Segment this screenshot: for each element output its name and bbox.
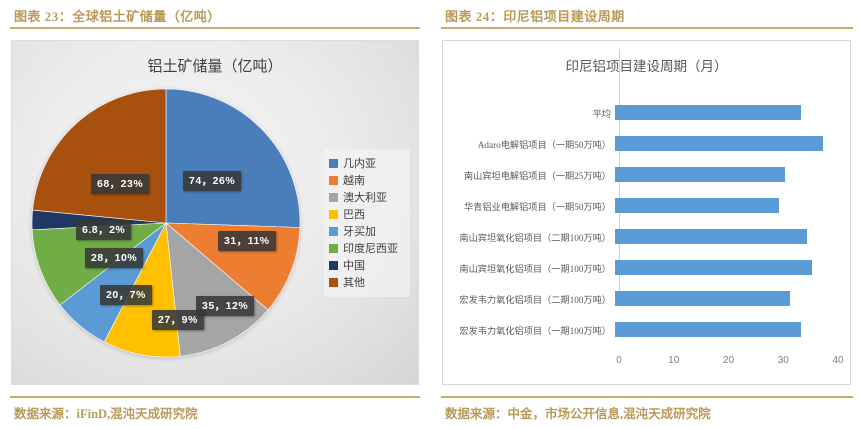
legend-label: 印度尼西亚 <box>343 240 398 256</box>
bar-chart-title: 印尼铝项目建设周期（月） <box>443 55 850 75</box>
pie-data-label-indonesia: 28，10% <box>85 248 143 268</box>
bar-track <box>615 221 851 252</box>
bar-category-label: 宏发韦力氧化铝项目（二期100万吨） <box>443 292 615 306</box>
legend-label: 越南 <box>343 172 365 188</box>
legend-label: 牙买加 <box>343 223 376 239</box>
exhibit-23-source: 数据来源：iFinD,混沌天成研究院 <box>14 403 198 422</box>
caption-divider-right <box>441 27 853 29</box>
exhibit-24-source: 数据来源：中金，市场公开信息,混沌天成研究院 <box>445 403 711 422</box>
pie-data-label-other: 68，23% <box>91 174 149 194</box>
bar-row[interactable]: Adaro电解铝项目（一期50万吨） <box>443 128 851 159</box>
legend-swatch-icon <box>329 227 338 236</box>
legend-item[interactable]: 中国 <box>329 257 405 273</box>
pie-chart-container: 铝土矿储量（亿吨） 74，26% 31，11% 35，12% 27，9% 20，… <box>11 40 419 385</box>
exhibit-24-panel: 图表 24：印尼铝项目建设周期 印尼铝项目建设周期（月） 平均Adaro电解铝项… <box>431 0 861 429</box>
bar-chart-container: 印尼铝项目建设周期（月） 平均Adaro电解铝项目（一期50万吨）南山宾坦电解铝… <box>442 40 851 385</box>
bar-row[interactable]: 宏发韦力氧化铝项目（一期100万吨） <box>443 314 851 345</box>
source-divider-left <box>10 396 420 398</box>
pie-data-label-brazil: 27，9% <box>152 310 204 330</box>
caption-divider-left <box>10 27 420 29</box>
legend-label: 中国 <box>343 257 365 273</box>
bar-track <box>615 97 851 128</box>
bar-category-label: Adaro电解铝项目（一期50万吨） <box>443 137 615 151</box>
bar-fill[interactable] <box>615 167 785 182</box>
bar-row[interactable]: 华青铝业电解铝项目（一期50万吨） <box>443 190 851 221</box>
pie-legend: 几内亚越南澳大利亚巴西牙买加印度尼西亚中国其他 <box>324 149 410 297</box>
bar-fill[interactable] <box>615 260 812 275</box>
legend-swatch-icon <box>329 159 338 168</box>
legend-label: 巴西 <box>343 206 365 222</box>
bar-row[interactable]: 宏发韦力氧化铝项目（二期100万吨） <box>443 283 851 314</box>
report-page: 图表 23：全球铝土矿储量（亿吨） 铝土矿储量（亿吨） 74，26% 31，11… <box>0 0 861 429</box>
pie-data-label-jamaica: 20，7% <box>100 285 152 305</box>
legend-item[interactable]: 巴西 <box>329 206 405 222</box>
legend-swatch-icon <box>329 278 338 287</box>
legend-label: 澳大利亚 <box>343 189 387 205</box>
bar-category-label: 南山宾坦电解铝项目（一期25万吨） <box>443 168 615 182</box>
bar-track <box>615 159 851 190</box>
bar-fill[interactable] <box>615 198 779 213</box>
pie-data-label-vietnam: 31，11% <box>218 231 276 251</box>
bar-track <box>615 252 851 283</box>
x-axis-tick-label: 0 <box>616 355 622 366</box>
bar-x-axis: 010203040 <box>443 353 851 375</box>
legend-item[interactable]: 其他 <box>329 274 405 290</box>
bar-fill[interactable] <box>615 229 807 244</box>
legend-item[interactable]: 几内亚 <box>329 155 405 171</box>
bar-category-label: 南山宾坦氧化铝项目（二期100万吨） <box>443 230 615 244</box>
exhibit-23-panel: 图表 23：全球铝土矿储量（亿吨） 铝土矿储量（亿吨） 74，26% 31，11… <box>0 0 430 429</box>
legend-label: 几内亚 <box>343 155 376 171</box>
bar-category-label: 平均 <box>443 106 615 120</box>
legend-item[interactable]: 越南 <box>329 172 405 188</box>
bar-track <box>615 128 851 159</box>
bar-category-label: 南山宾坦氧化铝项目（一期100万吨） <box>443 261 615 275</box>
bar-plot-area: 平均Adaro电解铝项目（一期50万吨）南山宾坦电解铝项目（一期25万吨）华青铝… <box>443 89 851 351</box>
exhibit-24-caption: 图表 24：印尼铝项目建设周期 <box>445 6 625 25</box>
legend-swatch-icon <box>329 261 338 270</box>
bar-row[interactable]: 平均 <box>443 97 851 128</box>
pie-data-label-china: 6.8，2% <box>76 220 131 240</box>
pie-data-label-guinea: 74，26% <box>183 171 241 191</box>
pie-data-label-australia: 35，12% <box>196 296 254 316</box>
x-axis-tick-label: 40 <box>832 355 843 366</box>
bar-fill[interactable] <box>615 291 790 306</box>
bar-row[interactable]: 南山宾坦氧化铝项目（二期100万吨） <box>443 221 851 252</box>
legend-label: 其他 <box>343 274 365 290</box>
bar-fill[interactable] <box>615 322 801 337</box>
legend-swatch-icon <box>329 210 338 219</box>
exhibit-23-caption: 图表 23：全球铝土矿储量（亿吨） <box>14 6 221 25</box>
bar-fill[interactable] <box>615 105 801 120</box>
bar-category-label: 华青铝业电解铝项目（一期50万吨） <box>443 199 615 213</box>
bar-category-label: 宏发韦力氧化铝项目（一期100万吨） <box>443 323 615 337</box>
legend-swatch-icon <box>329 193 338 202</box>
bar-fill[interactable] <box>615 136 823 151</box>
pie-slice <box>166 89 300 228</box>
pie-slice <box>33 89 166 223</box>
source-divider-right <box>441 396 853 398</box>
legend-swatch-icon <box>329 244 338 253</box>
bar-track <box>615 314 851 345</box>
x-axis-tick-label: 20 <box>723 355 734 366</box>
x-axis-tick-label: 30 <box>778 355 789 366</box>
legend-item[interactable]: 牙买加 <box>329 223 405 239</box>
legend-swatch-icon <box>329 176 338 185</box>
x-axis-tick-label: 10 <box>668 355 679 366</box>
bar-row[interactable]: 南山宾坦氧化铝项目（一期100万吨） <box>443 252 851 283</box>
bar-track <box>615 190 851 221</box>
legend-item[interactable]: 澳大利亚 <box>329 189 405 205</box>
legend-item[interactable]: 印度尼西亚 <box>329 240 405 256</box>
pie-chart-title: 铝土矿储量（亿吨） <box>12 55 418 76</box>
bar-track <box>615 283 851 314</box>
bar-row[interactable]: 南山宾坦电解铝项目（一期25万吨） <box>443 159 851 190</box>
